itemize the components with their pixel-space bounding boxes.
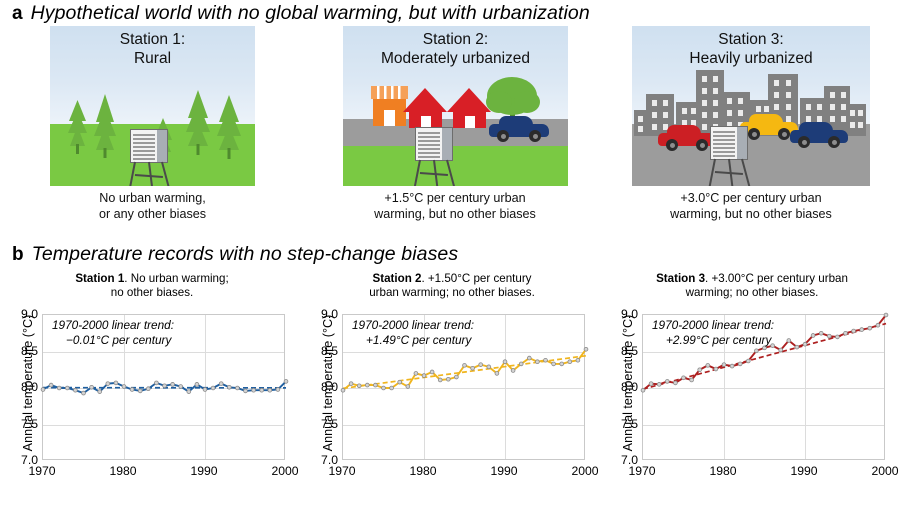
- trend-annotation-line2: +1.49°C per century: [352, 333, 552, 348]
- chart-station-3: Station 3. +3.00°C per century urbanwarm…: [600, 272, 900, 510]
- data-point-marker: [560, 362, 564, 366]
- data-point-marker: [649, 382, 653, 386]
- data-point-marker: [438, 378, 442, 382]
- data-point-marker: [114, 381, 118, 385]
- data-point-marker: [179, 385, 183, 389]
- scene-2-caption-line1: +1.5°C per century urban: [330, 191, 580, 207]
- chart-station-1: Station 1. No urban warming;no other bia…: [0, 272, 300, 510]
- data-point-marker: [446, 377, 450, 381]
- chart-title: Station 1. No urban warming;no other bia…: [10, 272, 294, 300]
- scene-2-caption: +1.5°C per century urban warming, but no…: [330, 191, 580, 222]
- trend-line: [343, 356, 586, 389]
- data-point-marker: [138, 389, 142, 393]
- chart-title-rest: . +3.00°C per century urban: [705, 272, 848, 285]
- y-tick-label: 8.5: [2, 344, 38, 358]
- data-point-marker: [382, 386, 386, 390]
- panel-b-title: Temperature records with no step-change …: [32, 243, 459, 266]
- scene-3-caption-line2: warming, but no other biases: [620, 207, 882, 223]
- scene-station-1: Station 1: Rural: [50, 26, 255, 186]
- chart-title: Station 3. +3.00°C per century urbanwarm…: [610, 272, 894, 300]
- data-point-marker: [414, 372, 418, 376]
- data-point-marker: [876, 323, 880, 327]
- data-point-marker: [195, 382, 199, 386]
- chart-title-line2: urban warming; no other biases.: [310, 286, 594, 300]
- trend-annotation-line2: −0.01°C per century: [52, 333, 252, 348]
- scene-station-2: Station 2: Moderately urbanized: [343, 26, 568, 186]
- x-tick-label: 1980: [98, 464, 148, 478]
- y-tick-label: 8.5: [302, 344, 338, 358]
- trend-annotation: 1970-2000 linear trend:+2.99°C per centu…: [652, 318, 852, 348]
- data-point-marker: [511, 369, 515, 373]
- data-point-marker: [74, 388, 78, 392]
- chart-title-station: Station 2: [373, 272, 422, 285]
- data-point-marker: [106, 382, 110, 386]
- x-tick-label: 1990: [179, 464, 229, 478]
- data-point-marker: [690, 378, 694, 382]
- car-navy: [489, 112, 549, 142]
- data-point-marker: [171, 382, 175, 386]
- panel-b-letter: b: [12, 244, 24, 266]
- scene-3-caption: +3.0°C per century urban warming, but no…: [620, 191, 882, 222]
- data-point-marker: [674, 381, 678, 385]
- data-point-marker: [738, 362, 742, 366]
- data-point-marker: [65, 386, 69, 390]
- data-point-marker: [203, 388, 207, 392]
- data-point-marker: [495, 372, 499, 376]
- data-point-marker: [82, 391, 86, 395]
- data-point-marker: [682, 376, 686, 380]
- data-point-marker: [852, 329, 856, 333]
- data-point-marker: [227, 385, 231, 389]
- data-point-marker: [90, 385, 94, 389]
- data-point-marker: [584, 347, 588, 351]
- chart-title-line2: warming; no other biases.: [610, 286, 894, 300]
- chart-title-line2: no other biases.: [10, 286, 294, 300]
- data-point-marker: [665, 380, 669, 384]
- data-point-marker: [884, 313, 888, 317]
- x-tick-label: 1970: [17, 464, 67, 478]
- data-point-marker: [236, 386, 240, 390]
- panel-a-title: Hypothetical world with no global warmin…: [31, 2, 590, 25]
- x-tick-label: 2000: [860, 464, 900, 478]
- data-point-marker: [487, 365, 491, 369]
- x-tick-label: 1990: [779, 464, 829, 478]
- data-point-marker: [422, 374, 426, 378]
- x-tick-label: 1970: [617, 464, 667, 478]
- data-point-marker: [722, 363, 726, 367]
- data-point-marker: [463, 363, 467, 367]
- data-point-marker: [503, 360, 507, 364]
- data-point-marker: [479, 363, 483, 367]
- data-point-marker: [374, 383, 378, 387]
- panel-a-letter: a: [12, 3, 23, 25]
- data-point-marker: [284, 380, 288, 384]
- data-point-marker: [746, 359, 750, 363]
- data-point-marker: [544, 358, 548, 362]
- data-point-marker: [57, 386, 61, 390]
- scene-1-caption: No urban warming, or any other biases: [40, 191, 265, 222]
- data-point-marker: [868, 326, 872, 330]
- y-tick-label: 7.5: [602, 417, 638, 431]
- panel-b-header: b Temperature records with no step-chang…: [12, 243, 458, 266]
- data-point-marker: [41, 388, 45, 392]
- data-point-marker: [657, 382, 661, 386]
- trend-annotation-line1: 1970-2000 linear trend:: [352, 318, 474, 332]
- chart-station-2: Station 2. +1.50°C per centuryurban warm…: [300, 272, 600, 510]
- data-point-marker: [698, 368, 702, 372]
- data-point-marker: [163, 384, 167, 388]
- data-point-marker: [519, 362, 523, 366]
- trend-annotation: 1970-2000 linear trend:−0.01°C per centu…: [52, 318, 252, 348]
- y-tick-label: 8.0: [602, 380, 638, 394]
- y-tick-label: 8.0: [302, 380, 338, 394]
- data-point-marker: [471, 366, 475, 370]
- scene-1-caption-line2: or any other biases: [40, 207, 265, 223]
- y-tick-label: 8.5: [602, 344, 638, 358]
- data-point-marker: [536, 360, 540, 364]
- chart-title-station: Station 3: [656, 272, 705, 285]
- data-point-marker: [276, 388, 280, 392]
- data-point-marker: [714, 367, 718, 371]
- data-point-marker: [341, 388, 345, 392]
- y-tick-label: 9.0: [2, 307, 38, 321]
- data-point-marker: [49, 383, 53, 387]
- data-point-marker: [130, 388, 134, 392]
- data-point-marker: [357, 384, 361, 388]
- data-point-marker: [155, 381, 159, 385]
- data-point-marker: [365, 383, 369, 387]
- data-point-marker: [244, 389, 248, 393]
- data-point-marker: [122, 385, 126, 389]
- panel-a-header: a Hypothetical world with no global warm…: [12, 2, 590, 25]
- data-point-marker: [527, 356, 531, 360]
- data-point-marker: [146, 387, 150, 391]
- data-point-marker: [219, 382, 223, 386]
- data-point-marker: [860, 328, 864, 332]
- x-tick-label: 1980: [398, 464, 448, 478]
- x-tick-label: 1970: [317, 464, 367, 478]
- data-point-marker: [398, 380, 402, 384]
- data-point-marker: [260, 388, 264, 392]
- data-point-marker: [187, 390, 191, 394]
- car-red: [658, 121, 716, 151]
- data-point-marker: [568, 360, 572, 364]
- data-point-marker: [406, 385, 410, 389]
- data-point-marker: [211, 386, 215, 390]
- data-point-marker: [706, 363, 710, 367]
- trend-annotation-line2: +2.99°C per century: [652, 333, 852, 348]
- trend-annotation: 1970-2000 linear trend:+1.49°C per centu…: [352, 318, 552, 348]
- data-point-marker: [755, 349, 759, 353]
- y-tick-label: 9.0: [302, 307, 338, 321]
- data-point-marker: [252, 388, 256, 392]
- scene-1-caption-line1: No urban warming,: [40, 191, 265, 207]
- chart-title-station: Station 1: [75, 272, 124, 285]
- chart-title-rest: . +1.50°C per century: [421, 272, 531, 285]
- chart-title-rest: . No urban warming;: [124, 272, 228, 285]
- x-tick-label: 1980: [698, 464, 748, 478]
- data-point-marker: [430, 370, 434, 374]
- data-point-marker: [576, 358, 580, 362]
- town-buildings-group: [343, 26, 568, 186]
- x-tick-label: 1990: [479, 464, 529, 478]
- y-tick-label: 7.5: [2, 417, 38, 431]
- data-point-marker: [779, 348, 783, 352]
- data-point-marker: [98, 390, 102, 394]
- y-tick-label: 7.5: [302, 417, 338, 431]
- y-tick-label: 8.0: [2, 380, 38, 394]
- data-point-marker: [268, 388, 272, 392]
- y-tick-label: 9.0: [602, 307, 638, 321]
- data-point-marker: [390, 386, 394, 390]
- trend-annotation-line1: 1970-2000 linear trend:: [652, 318, 774, 332]
- city-skyline-group: [632, 26, 870, 186]
- car-navy: [790, 118, 848, 148]
- scene-station-3: Station 3: Heavily urbanized: [632, 26, 870, 186]
- chart-title: Station 2. +1.50°C per centuryurban warm…: [310, 272, 594, 300]
- data-point-marker: [349, 382, 353, 386]
- data-point-marker: [730, 364, 734, 368]
- data-point-marker: [552, 362, 556, 366]
- scene-3-caption-line1: +3.0°C per century urban: [620, 191, 882, 207]
- scene-2-caption-line2: warming, but no other biases: [330, 207, 580, 223]
- trend-annotation-line1: 1970-2000 linear trend:: [52, 318, 174, 332]
- data-point-marker: [455, 375, 459, 379]
- data-point-marker: [641, 388, 645, 392]
